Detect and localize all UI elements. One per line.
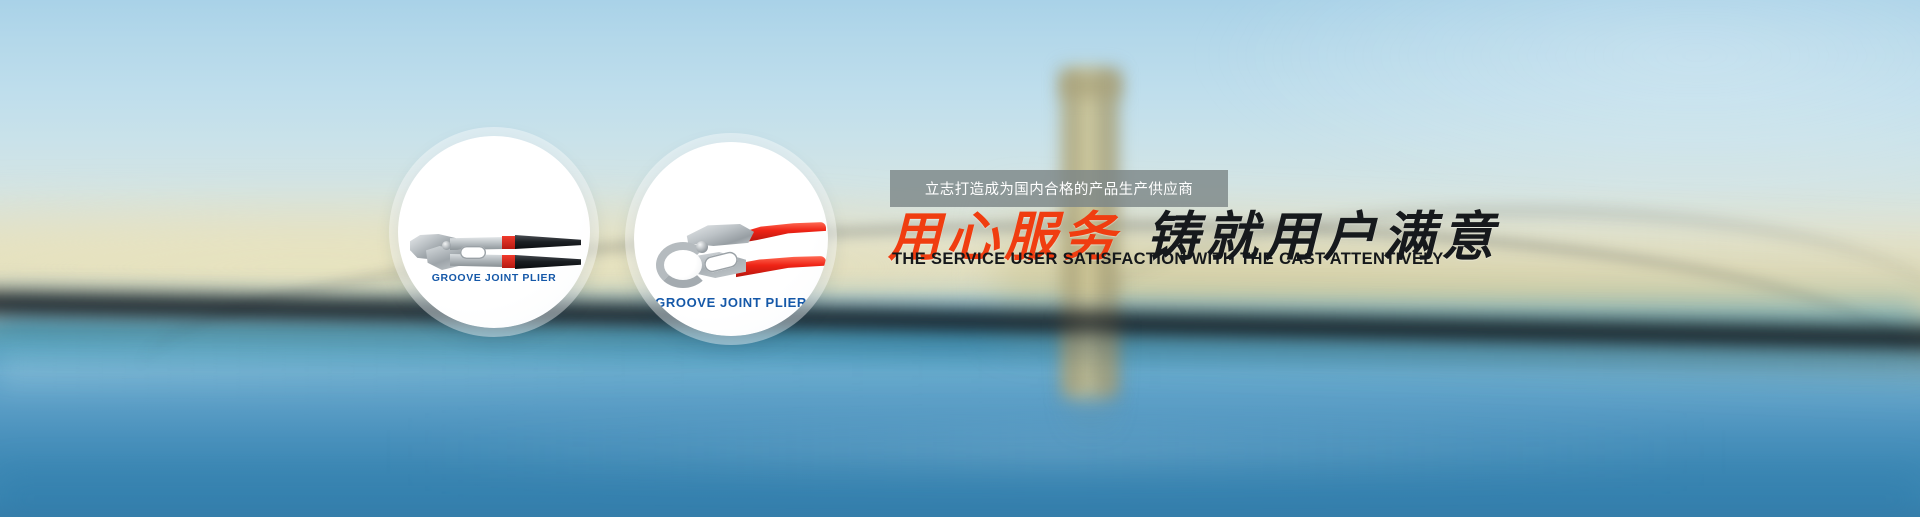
product-circle-2[interactable]: GROOVE JOINT PLIER xyxy=(634,142,828,336)
water-sheen-upper xyxy=(0,352,1190,388)
product-circle-1[interactable]: GROOVE JOINT PLIER xyxy=(398,136,590,328)
sky-glow xyxy=(1190,0,1920,217)
water-sheen-middle xyxy=(384,430,1728,474)
groove-joint-plier-angled-icon xyxy=(656,220,826,298)
hero-banner: GROOVE JOINT PLIER GROOVE JOINT PLIER 立志… xyxy=(0,0,1920,517)
product-label-1: GROOVE JOINT PLIER xyxy=(398,272,590,284)
subheadline-text: THE SERVICE USER SATISFACTION WITH THE C… xyxy=(892,250,1444,269)
bridge-pylon-cap xyxy=(1060,72,1122,98)
product-label-2: GROOVE JOINT PLIER xyxy=(634,295,828,310)
water-sheen-lower xyxy=(0,470,1920,517)
